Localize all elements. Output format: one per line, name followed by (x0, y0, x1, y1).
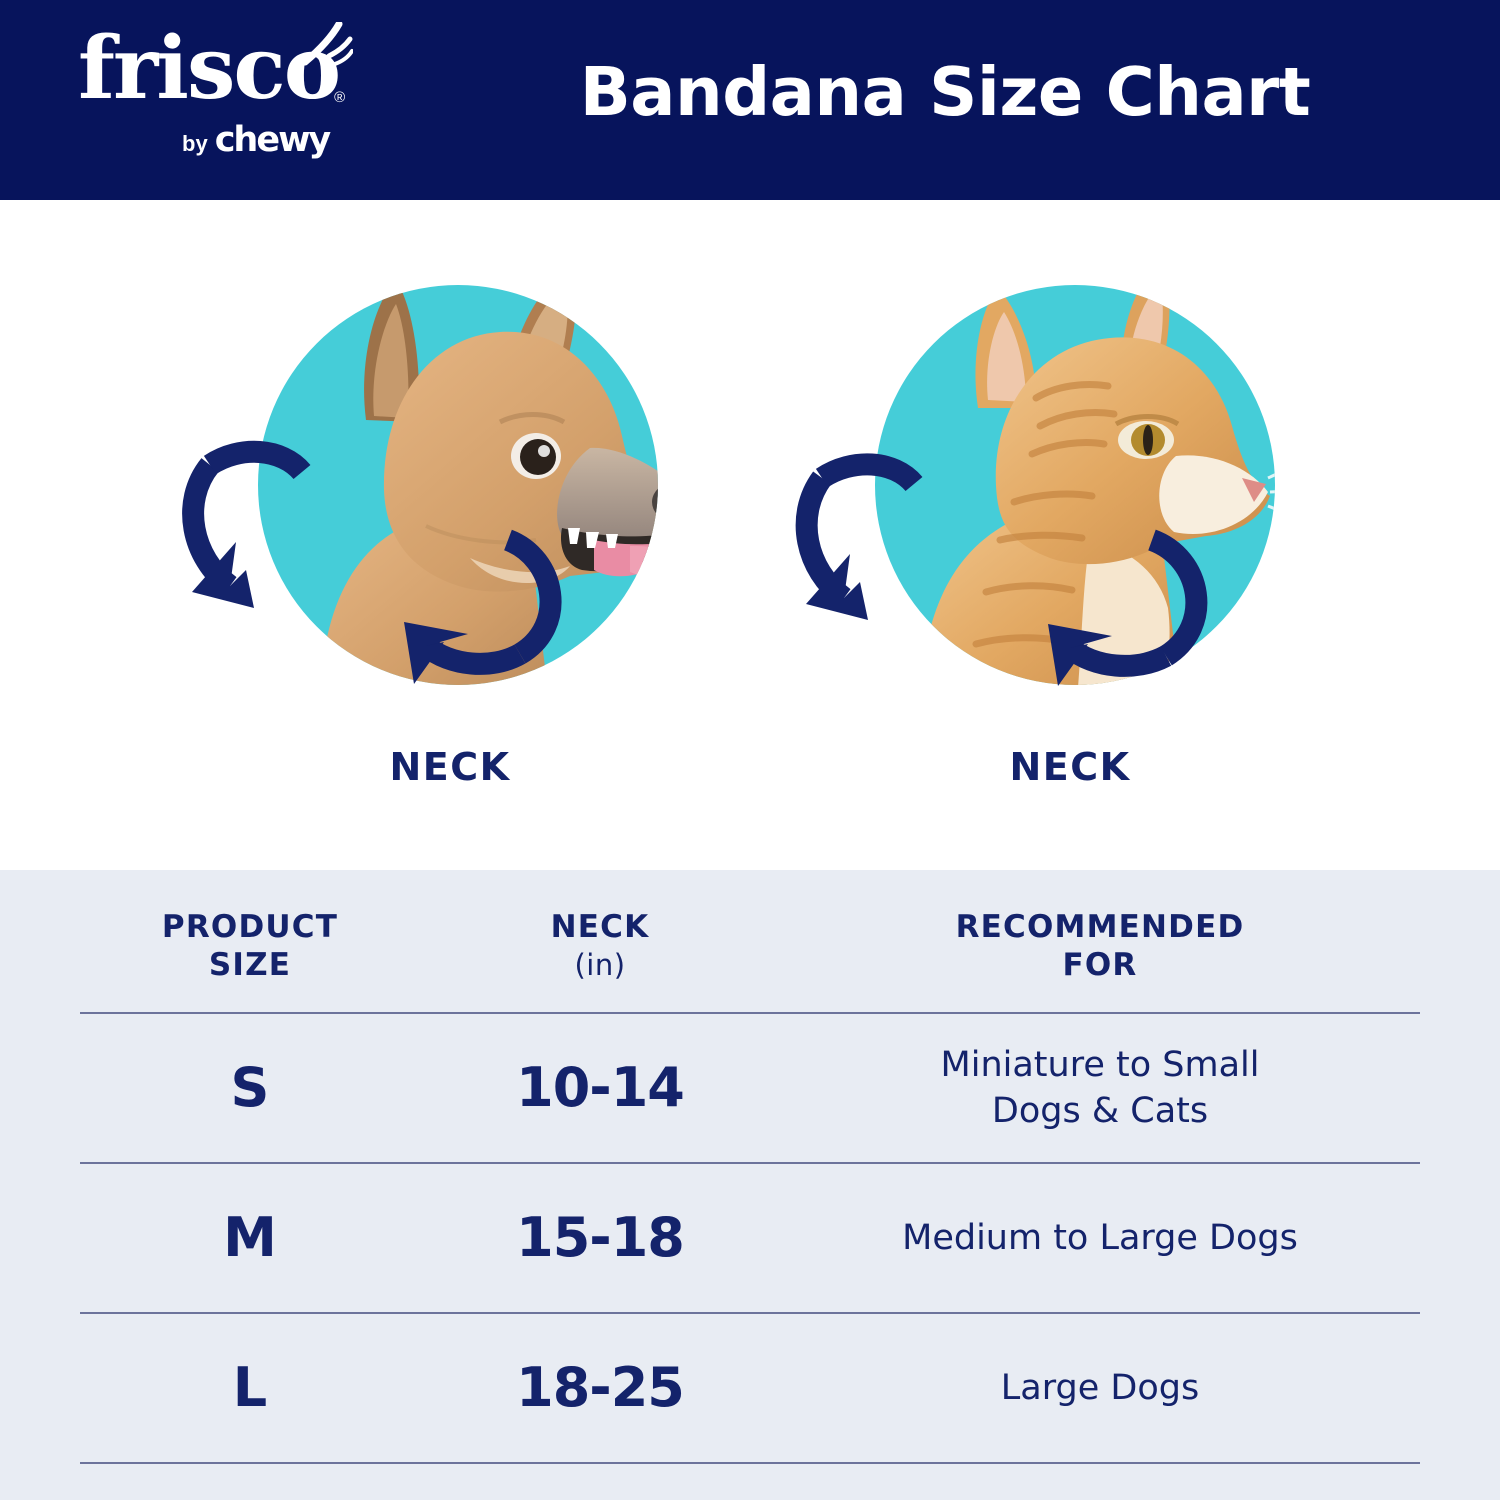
cell-product-size: M (80, 1163, 420, 1313)
header-line-2: SIZE (209, 947, 291, 983)
size-table-head: PRODUCT SIZE NECK (in) RECOMMENDED FOR (80, 870, 1420, 1013)
dog-illustration-icon (170, 240, 730, 740)
cell-neck-range: 18-25 (420, 1313, 780, 1463)
registered-trademark-icon: ® (334, 89, 345, 106)
size-table-body: S 10-14 Miniature to Small Dogs & Cats M… (80, 1013, 1420, 1463)
cat-measurement-figure: NECK (790, 240, 1350, 840)
recommended-line-1: Miniature to Small (941, 1045, 1260, 1085)
cat-neck-label: NECK (790, 745, 1350, 789)
recommended-line-2: Dogs & Cats (992, 1091, 1208, 1131)
table-row: L 18-25 Large Dogs (80, 1313, 1420, 1463)
cell-neck-range: 15-18 (420, 1163, 780, 1313)
table-row: S 10-14 Miniature to Small Dogs & Cats (80, 1013, 1420, 1163)
brand-by-label: by (182, 131, 208, 157)
recommended-line-1: Medium to Large Dogs (902, 1218, 1298, 1258)
header-line-2: FOR (1063, 947, 1138, 983)
header-line-1: RECOMMENDED (956, 909, 1245, 945)
cell-product-size: L (80, 1313, 420, 1463)
size-chart-page: frisco ® by chewy Bandana Size Chart (0, 0, 1500, 1500)
dog-neck-label: NECK (170, 745, 730, 789)
cell-product-size: S (80, 1013, 420, 1163)
cat-illustration-icon (790, 240, 1350, 740)
size-table-panel: PRODUCT SIZE NECK (in) RECOMMENDED FOR S (0, 870, 1500, 1500)
page-header: frisco ® by chewy Bandana Size Chart (0, 0, 1500, 200)
frisco-brand-logo: frisco ® by chewy (78, 26, 378, 176)
cell-recommended-for: Large Dogs (780, 1313, 1420, 1463)
header-line-1: PRODUCT (162, 909, 338, 945)
brand-chewy-label: chewy (215, 120, 330, 160)
cell-neck-range: 10-14 (420, 1013, 780, 1163)
page-title: Bandana Size Chart (430, 52, 1460, 132)
size-table: PRODUCT SIZE NECK (in) RECOMMENDED FOR S (80, 870, 1420, 1464)
column-header-recommended-for: RECOMMENDED FOR (780, 870, 1420, 1013)
table-row: M 15-18 Medium to Large Dogs (80, 1163, 1420, 1313)
recommended-line-1: Large Dogs (1001, 1368, 1199, 1408)
dog-image (170, 240, 730, 740)
brand-swoosh-icon (299, 22, 353, 68)
column-header-neck: NECK (in) (420, 870, 780, 1013)
cell-recommended-for: Medium to Large Dogs (780, 1163, 1420, 1313)
table-header-row: PRODUCT SIZE NECK (in) RECOMMENDED FOR (80, 870, 1420, 1013)
dog-measurement-figure: NECK (170, 240, 730, 840)
brand-subline: by chewy (78, 120, 378, 160)
column-header-product-size: PRODUCT SIZE (80, 870, 420, 1013)
header-unit: (in) (426, 946, 774, 984)
cell-recommended-for: Miniature to Small Dogs & Cats (780, 1013, 1420, 1163)
illustration-area: NECK (0, 200, 1500, 870)
cat-image (790, 240, 1350, 740)
header-line-1: NECK (551, 909, 650, 945)
